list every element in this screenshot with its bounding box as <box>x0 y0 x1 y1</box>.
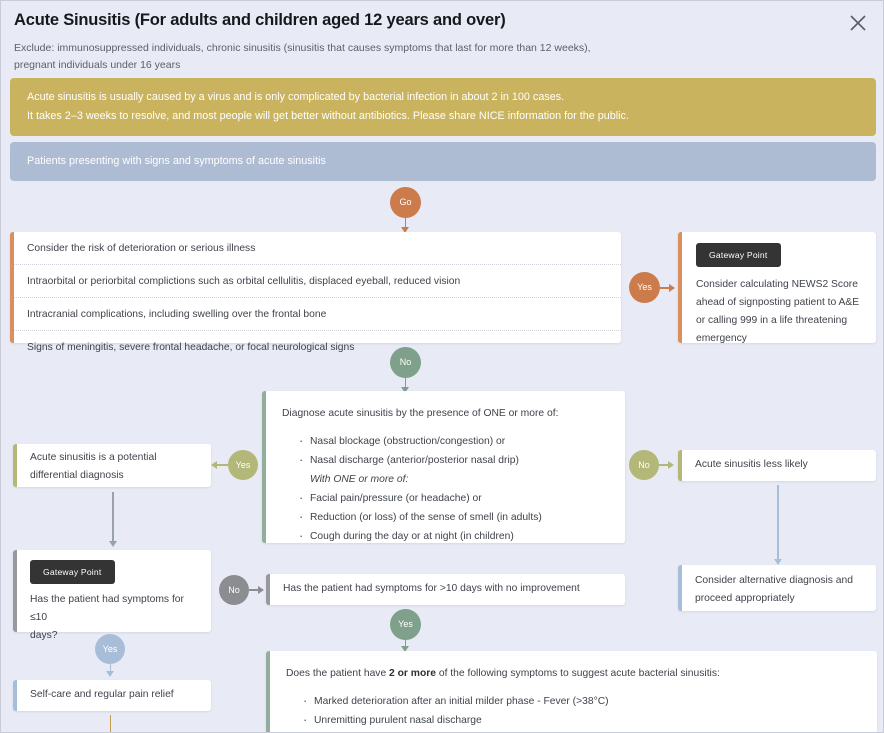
node-redflag-no-label: No <box>400 358 412 367</box>
node-tenday-yes[interactable]: Yes <box>95 634 125 664</box>
close-icon[interactable] <box>845 10 871 36</box>
red-flag-row: Consider the risk of deterioration or se… <box>14 232 621 265</box>
acute-sinusitis-pathway-dialog: Acute Sinusitis (For adults and children… <box>0 0 884 733</box>
diagnosis-lead: Diagnose acute sinusitis by the presence… <box>282 405 609 423</box>
differential-diagnosis-card[interactable]: Acute sinusitis is a potential different… <box>13 444 211 487</box>
list-item: Unremitting purulent nasal discharge <box>303 711 861 730</box>
less-likely-card[interactable]: Acute sinusitis less likely <box>678 450 876 481</box>
entry-banner: Patients presenting with signs and sympt… <box>10 142 876 181</box>
node-redflag-yes-label: Yes <box>637 283 652 292</box>
gateway-news2-text: Consider calculating NEWS2 Score ahead o… <box>696 276 863 348</box>
gateway-point-badge: Gateway Point <box>30 560 115 584</box>
arrow-redflag-yes-right <box>669 284 675 292</box>
node-tenday-no[interactable]: No <box>219 575 249 605</box>
red-flag-row: Intracranial complications, including sw… <box>14 298 621 331</box>
node-go[interactable]: Go <box>390 187 421 218</box>
red-flags-card[interactable]: Consider the risk of deterioration or se… <box>10 232 621 343</box>
gateway-ten-days-card[interactable]: Gateway Point Has the patient had sympto… <box>13 550 211 632</box>
connector-differential-down <box>112 492 114 543</box>
node-redflag-yes[interactable]: Yes <box>629 272 660 303</box>
bacterial-sinusitis-card[interactable]: Does the patient have 2 or more of the f… <box>266 651 877 733</box>
node-overten-yes-label: Yes <box>398 620 413 629</box>
bacterial-symptom-list: Marked deterioration after an initial mi… <box>286 692 861 733</box>
node-redflag-no[interactable]: No <box>390 347 421 378</box>
differential-line-1: Acute sinusitis is a potential <box>30 449 199 467</box>
node-diagnosis-no[interactable]: No <box>629 450 659 480</box>
dialog-header: Acute Sinusitis (For adults and children… <box>1 1 884 73</box>
node-diagnosis-no-label: No <box>638 461 650 470</box>
over-ten-days-card[interactable]: Has the patient had symptoms for >10 day… <box>266 574 625 605</box>
diagnosis-sublead: With ONE or more of: <box>299 470 609 489</box>
less-likely-label: Acute sinusitis less likely <box>695 456 864 474</box>
node-tenday-no-label: No <box>228 586 240 595</box>
info-banner: Acute sinusitis is usually caused by a v… <box>10 78 876 136</box>
arrow-differential-down <box>109 541 117 547</box>
diagnosis-criteria-list: Nasal blockage (obstruction/congestion) … <box>282 432 609 546</box>
node-go-label: Go <box>399 198 411 207</box>
info-banner-line-1: Acute sinusitis is usually caused by a v… <box>27 88 859 107</box>
alternative-line-1: Consider alternative diagnosis and <box>695 572 864 590</box>
node-diagnosis-yes-label: Yes <box>236 461 251 470</box>
self-care-card[interactable]: Self-care and regular pain relief <box>13 680 211 711</box>
red-flag-row: Intraorbital or periorbital complictions… <box>14 265 621 298</box>
differential-line-2: differential diagnosis <box>30 467 199 485</box>
node-diagnosis-yes[interactable]: Yes <box>228 450 258 480</box>
entry-banner-label: Patients presenting with signs and sympt… <box>27 154 859 169</box>
list-item: Marked deterioration after an initial mi… <box>303 692 861 711</box>
connector-diagnosis-yes <box>217 464 228 466</box>
exclusion-line-1: Exclude: immunosuppressed individuals, c… <box>14 40 714 57</box>
gateway-point-badge: Gateway Point <box>696 243 781 267</box>
alternative-diagnosis-card[interactable]: Consider alternative diagnosis and proce… <box>678 565 876 611</box>
gateway-ten-days-line-1: Has the patient had symptoms for ≤10 <box>30 591 199 627</box>
arrow-diagnosis-yes-left <box>211 461 217 469</box>
list-item: Nasal discharge (anterior/posterior nasa… <box>299 451 609 470</box>
gateway-news2-card[interactable]: Gateway Point Consider calculating NEWS2… <box>678 232 876 343</box>
info-banner-line-2: It takes 2–3 weeks to resolve, and most … <box>27 107 859 126</box>
alternative-line-2: proceed appropriately <box>695 590 864 608</box>
self-care-label: Self-care and regular pain relief <box>30 686 199 704</box>
exclusion-line-2: pregnant individuals under 16 years <box>14 57 714 74</box>
arrow-tenday-yes-down <box>106 671 114 677</box>
list-item: Facial pain/pressure (or headache) or <box>299 489 609 508</box>
connector-self-care-down <box>110 715 112 733</box>
list-item: Reduction (or loss) of the sense of smel… <box>299 508 609 527</box>
bacterial-lead-bold: 2 or more <box>389 668 436 679</box>
arrow-tenday-no-right <box>258 586 264 594</box>
bacterial-lead-suffix: of the following symptoms to suggest acu… <box>436 668 720 679</box>
connector-less-likely-down <box>777 485 779 561</box>
red-flag-row: Signs of meningitis, severe frontal head… <box>14 331 621 363</box>
list-item: Nasal blockage (obstruction/congestion) … <box>299 432 609 451</box>
over-ten-days-label: Has the patient had symptoms for >10 day… <box>283 580 613 598</box>
node-overten-yes[interactable]: Yes <box>390 609 421 640</box>
diagnosis-criteria-card[interactable]: Diagnose acute sinusitis by the presence… <box>262 391 625 543</box>
bacterial-lead: Does the patient have 2 or more of the f… <box>286 665 861 683</box>
page-title: Acute Sinusitis (For adults and children… <box>14 11 506 30</box>
exclusion-note: Exclude: immunosuppressed individuals, c… <box>14 40 714 74</box>
node-tenday-yes-label: Yes <box>103 645 118 654</box>
arrow-diagnosis-no-right <box>668 461 674 469</box>
bacterial-lead-prefix: Does the patient have <box>286 668 389 679</box>
list-item: Cough during the day or at night (in chi… <box>299 527 609 546</box>
